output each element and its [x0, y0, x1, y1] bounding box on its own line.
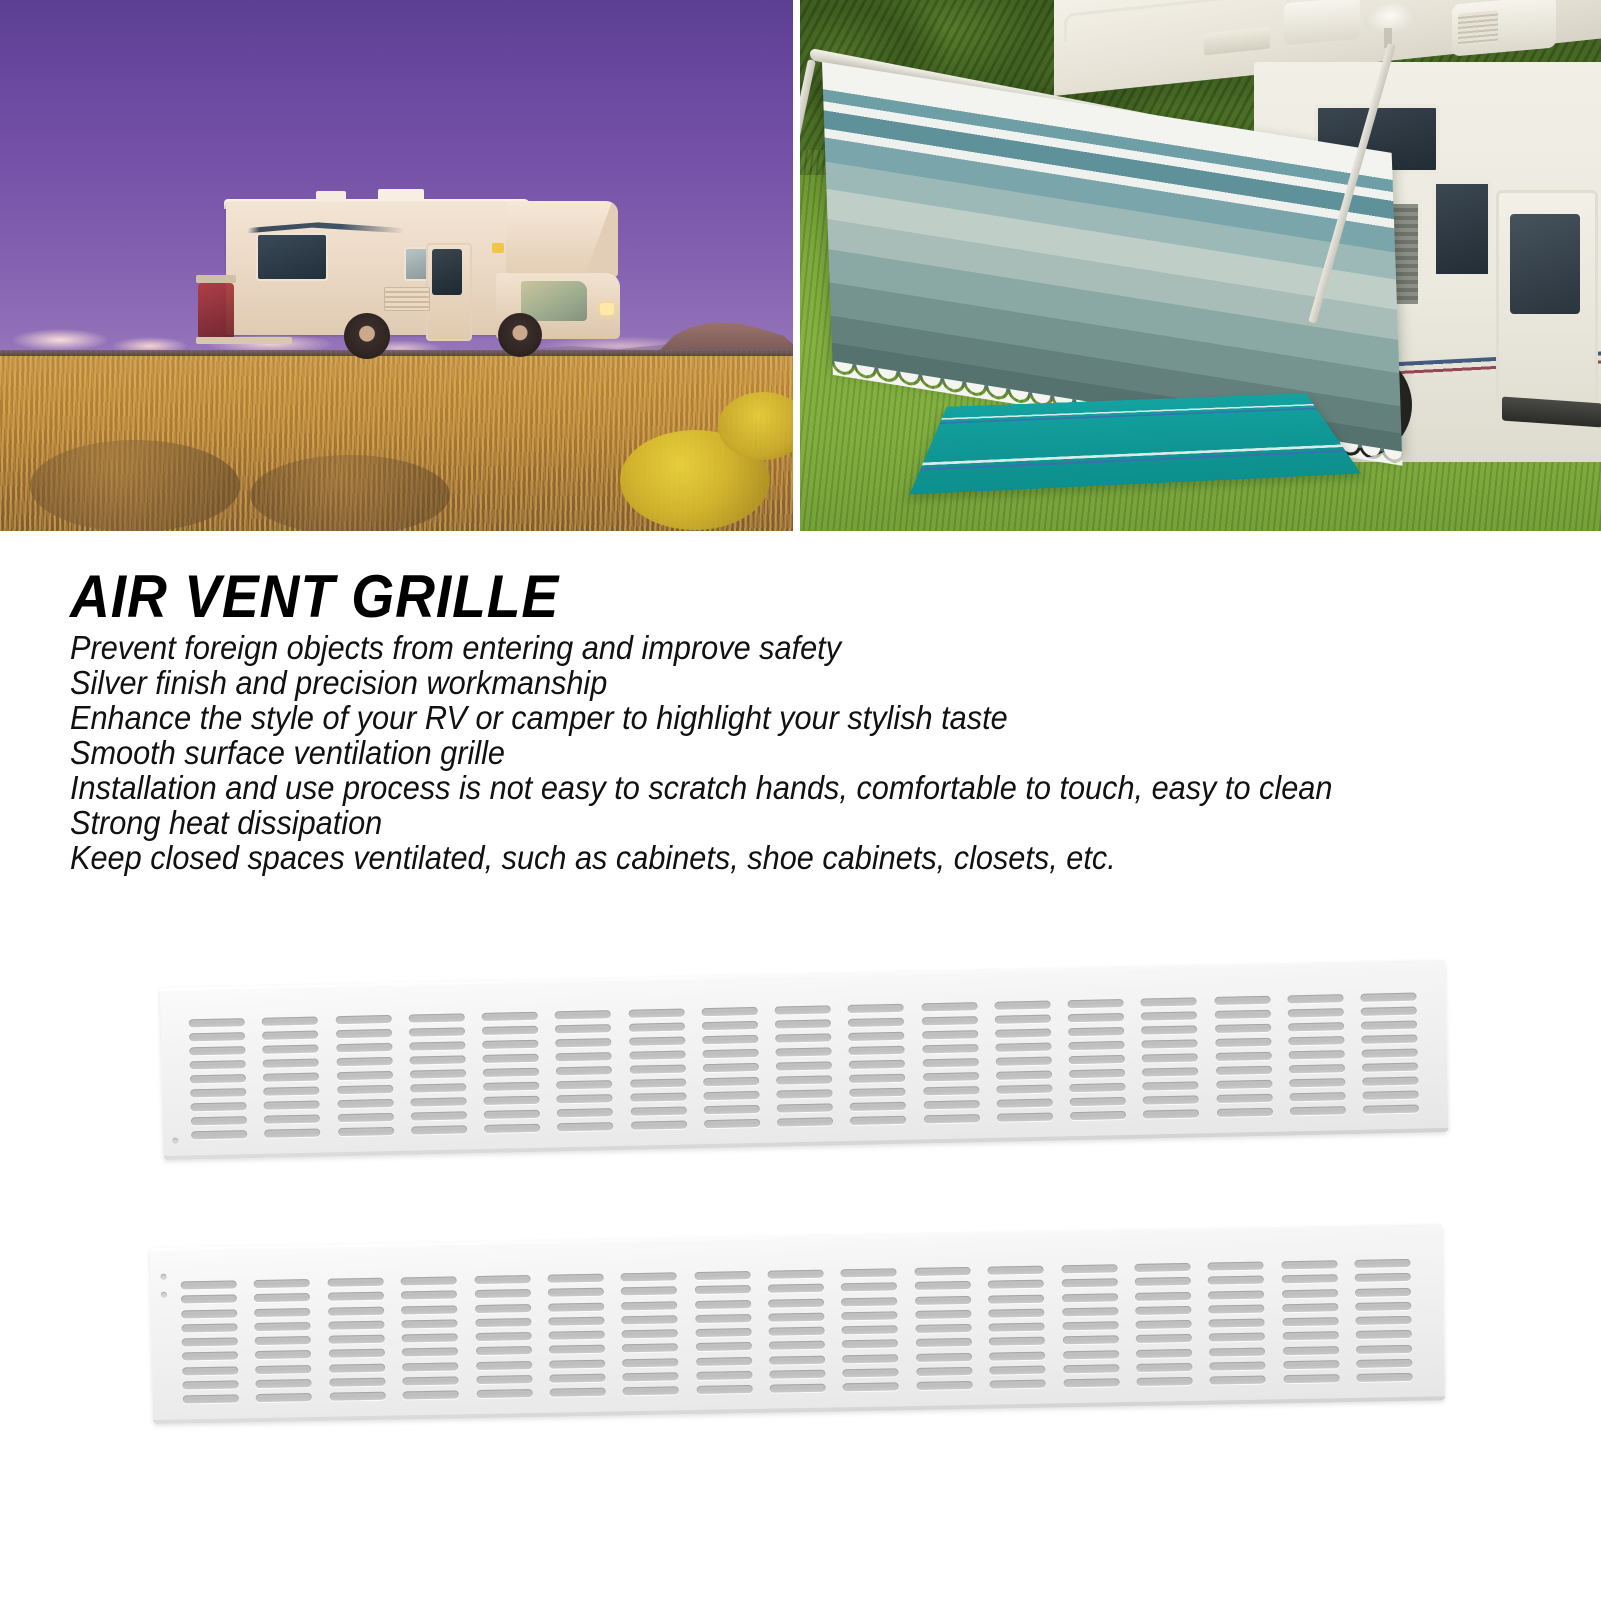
vent-slot	[1215, 1038, 1271, 1047]
vent-slot	[1356, 1359, 1412, 1368]
slot-column	[701, 1007, 760, 1128]
vent-slot	[181, 1295, 237, 1304]
rear-wheel	[344, 313, 390, 359]
vent-slot	[989, 1323, 1045, 1332]
slot-column	[1061, 1264, 1119, 1387]
grille-plate	[160, 960, 1448, 1160]
vent-slot	[916, 1338, 972, 1347]
vent-slot	[191, 1116, 247, 1125]
vent-slot	[842, 1354, 898, 1363]
vent-slot	[547, 1274, 603, 1283]
slot-column	[768, 1270, 826, 1393]
mounted-bicycle	[198, 283, 234, 339]
slot-column	[988, 1266, 1046, 1389]
vent-slot	[695, 1300, 751, 1309]
vent-slot	[768, 1284, 824, 1293]
vent-slot	[548, 1288, 604, 1297]
vent-slot	[775, 1033, 831, 1042]
vent-slot	[1363, 1105, 1419, 1114]
vent-slot	[409, 1041, 465, 1050]
vent-slot	[622, 1358, 678, 1367]
vent-slot	[556, 1052, 612, 1061]
feature-item: Prevent foreign objects from entering an…	[70, 630, 1465, 665]
photo-divider	[793, 0, 800, 531]
vent-slot	[777, 1103, 833, 1112]
slot-column	[1134, 1263, 1192, 1386]
vent-slot	[403, 1376, 459, 1385]
vent-slot	[1215, 1066, 1271, 1075]
vent-slot	[841, 1268, 897, 1277]
slot-column	[181, 1280, 239, 1403]
vent-slot	[776, 1075, 832, 1084]
vent-slot	[189, 1018, 245, 1027]
slot-column	[555, 1010, 614, 1131]
vent-slot	[1289, 1092, 1345, 1101]
vent-slot	[549, 1345, 605, 1354]
vent-slot	[182, 1366, 238, 1375]
vent-slot	[255, 1350, 311, 1359]
vent-slot	[483, 1068, 539, 1077]
slot-column	[1360, 993, 1419, 1114]
vent-slot	[1354, 1259, 1410, 1268]
vent-slot	[629, 1051, 685, 1060]
vent-slot	[1356, 1330, 1412, 1339]
vent-slot	[696, 1385, 752, 1394]
door-window	[432, 249, 462, 295]
vent-slot	[848, 1032, 904, 1041]
vent-slot	[1362, 1077, 1418, 1086]
mounting-hole	[161, 1292, 167, 1298]
vent-slot	[1216, 1108, 1272, 1117]
vent-slot	[695, 1314, 751, 1323]
feature-item: Installation and use process is not easy…	[70, 770, 1465, 805]
vent-slot	[335, 1029, 391, 1038]
vent-slot	[1143, 1095, 1199, 1104]
vent-slot	[483, 1096, 539, 1105]
vent-slot	[1214, 1010, 1270, 1019]
vent-slot	[328, 1320, 384, 1329]
vent-slot	[848, 1004, 904, 1013]
front-wheel	[498, 313, 542, 357]
vent-slot	[484, 1110, 540, 1119]
vent-slot	[401, 1276, 457, 1285]
vent-slot	[1136, 1348, 1192, 1357]
vent-slot	[550, 1388, 606, 1397]
vent-slot	[403, 1390, 459, 1399]
vent-slot	[695, 1342, 751, 1351]
vent-slot	[329, 1363, 385, 1372]
vent-slot	[1069, 1083, 1125, 1092]
vent-slot	[1361, 1021, 1417, 1030]
vent-slot	[411, 1125, 467, 1134]
vent-slot	[989, 1337, 1045, 1346]
vent-slot	[988, 1308, 1044, 1317]
vent-slot	[768, 1298, 824, 1307]
vent-slot	[1355, 1273, 1411, 1282]
vent-slot	[850, 1116, 906, 1125]
vent-slot	[1135, 1306, 1191, 1315]
vent-slot	[548, 1302, 604, 1311]
vent-slot	[997, 1113, 1053, 1122]
vent-slot	[622, 1344, 678, 1353]
vent-slot	[474, 1275, 530, 1284]
vent-slot	[557, 1122, 613, 1131]
vent-slot	[848, 1018, 904, 1027]
vent-slot	[1141, 997, 1197, 1006]
vent-slot	[1283, 1374, 1339, 1383]
product-listing-page: AIR VENT GRILLE Prevent foreign objects …	[0, 0, 1601, 1601]
vent-slot	[264, 1129, 320, 1138]
vent-slot	[1209, 1333, 1265, 1342]
vent-slot	[337, 1099, 393, 1108]
vent-slot	[628, 1009, 684, 1018]
vent-slot	[1361, 1007, 1417, 1016]
feature-item: Enhance the style of your RV or camper t…	[70, 700, 1465, 735]
vent-slot	[182, 1352, 238, 1361]
vent-slot	[995, 1029, 1051, 1038]
rear-bumper	[196, 337, 292, 344]
vent-slot	[703, 1063, 759, 1072]
vent-slot	[1282, 1331, 1338, 1340]
slot-column	[694, 1271, 752, 1394]
vent-slot	[630, 1093, 686, 1102]
vent-slot	[1210, 1361, 1266, 1370]
headlight	[600, 303, 614, 315]
vent-slot	[1362, 1049, 1418, 1058]
vent-slot	[622, 1315, 678, 1324]
vent-slot	[474, 1289, 530, 1298]
vent-slot	[628, 1023, 684, 1032]
vent-slot	[1289, 1078, 1345, 1087]
vent-slot	[996, 1071, 1052, 1080]
air-vent-grille-unit-2	[150, 1224, 1453, 1448]
slot-column	[1208, 1262, 1266, 1385]
vent-slot	[1062, 1307, 1118, 1316]
vent-slot	[556, 1080, 612, 1089]
slot-column	[401, 1276, 459, 1399]
vent-slot	[996, 1085, 1052, 1094]
grille-plate	[150, 1224, 1445, 1424]
vent-slot	[1062, 1336, 1118, 1345]
vent-slot	[1141, 1025, 1197, 1034]
vent-slot	[1288, 1050, 1344, 1059]
vent-slot	[842, 1311, 898, 1320]
rv-sunset-photo	[0, 0, 793, 531]
vent-slot	[484, 1124, 540, 1133]
slot-column	[1067, 999, 1126, 1120]
vent-slot	[337, 1085, 393, 1094]
vent-slot	[256, 1365, 312, 1374]
vent-slot	[921, 1002, 977, 1011]
vent-slot	[1355, 1302, 1411, 1311]
vent-slot	[988, 1280, 1044, 1289]
vent-slot	[190, 1060, 246, 1069]
vent-slot	[402, 1333, 458, 1342]
plate-bottom-edge	[153, 1396, 1445, 1424]
vent-slot	[263, 1087, 319, 1096]
vent-slot	[769, 1355, 825, 1364]
vent-slot	[181, 1309, 237, 1318]
vent-slot	[476, 1361, 532, 1370]
slot-column	[994, 1001, 1053, 1122]
vent-slot	[1281, 1260, 1337, 1269]
vent-slot	[769, 1341, 825, 1350]
vent-slot	[1281, 1274, 1337, 1283]
vent-slot	[922, 1030, 978, 1039]
vent-slot	[401, 1305, 457, 1314]
slot-column	[1214, 996, 1273, 1117]
vent-slot	[923, 1086, 979, 1095]
vent-slot	[915, 1281, 971, 1290]
page-title: AIR VENT GRILLE	[70, 566, 1450, 628]
vent-slot	[1282, 1289, 1338, 1298]
vent-slot	[1069, 1069, 1125, 1078]
feature-item: Keep closed spaces ventilated, such as c…	[70, 840, 1465, 875]
vent-slot	[841, 1297, 897, 1306]
slot-column	[262, 1017, 321, 1138]
rear-rack	[196, 275, 236, 283]
dark-shrub	[30, 440, 240, 531]
vent-slot	[989, 1351, 1045, 1360]
vent-slot	[704, 1119, 760, 1128]
vent-slot	[408, 1013, 464, 1022]
vent-slot	[1069, 1055, 1125, 1064]
vent-slot	[410, 1097, 466, 1106]
vent-slot	[775, 1005, 831, 1014]
vent-slot	[336, 1057, 392, 1066]
vent-slot	[1068, 1013, 1124, 1022]
vent-slot	[329, 1349, 385, 1358]
vent-slot	[622, 1329, 678, 1338]
photo-band	[0, 0, 1601, 531]
vent-slot	[703, 1091, 759, 1100]
mounting-hole	[172, 1138, 178, 1144]
motorhome-vehicle	[196, 185, 616, 363]
vent-slot	[694, 1271, 750, 1280]
vent-slot	[254, 1279, 310, 1288]
vent-slot	[1282, 1303, 1338, 1312]
vent-slot	[1142, 1067, 1198, 1076]
vent-slot	[631, 1121, 687, 1130]
vent-slot	[475, 1318, 531, 1327]
vent-slot	[623, 1386, 679, 1395]
roof-vent	[316, 191, 346, 201]
vent-slot	[329, 1377, 385, 1386]
vent-slot	[629, 1065, 685, 1074]
mounting-hole	[160, 1274, 166, 1280]
vent-slot	[1061, 1293, 1117, 1302]
vent-slot	[988, 1294, 1044, 1303]
vent-slot	[181, 1323, 237, 1332]
vent-slot	[1357, 1373, 1413, 1382]
vent-slot	[702, 1021, 758, 1030]
plate-top-edge	[150, 1224, 1442, 1251]
vent-slot	[849, 1046, 905, 1055]
vent-slot	[182, 1337, 238, 1346]
vent-slot	[1135, 1277, 1191, 1286]
vent-slot	[1356, 1344, 1412, 1353]
vent-slot	[482, 1040, 538, 1049]
vent-slot	[410, 1083, 466, 1092]
vent-slot	[922, 1058, 978, 1067]
vent-slot	[695, 1328, 751, 1337]
vent-slot	[923, 1114, 979, 1123]
door-window	[1510, 214, 1580, 314]
vent-slot	[995, 1057, 1051, 1066]
vent-slot	[842, 1340, 898, 1349]
vent-slot	[555, 1024, 611, 1033]
vent-slot	[548, 1331, 604, 1340]
dark-shrub	[250, 455, 450, 531]
slot-column	[621, 1272, 679, 1395]
vent-slot	[1355, 1287, 1411, 1296]
vent-slot	[1063, 1378, 1119, 1387]
vent-slot	[189, 1032, 245, 1041]
slot-array	[181, 1259, 1413, 1404]
side-window	[256, 233, 328, 281]
vent-slot	[922, 1044, 978, 1053]
vent-slot	[482, 1026, 538, 1035]
vent-slot	[263, 1045, 319, 1054]
vent-slot	[1210, 1376, 1266, 1385]
vent-slot	[1361, 1035, 1417, 1044]
vent-slot	[401, 1319, 457, 1328]
vent-slot	[777, 1117, 833, 1126]
slot-column	[914, 1267, 972, 1390]
vent-slot	[842, 1325, 898, 1334]
vent-slot	[776, 1061, 832, 1070]
vent-slot	[988, 1266, 1044, 1275]
vent-slot	[703, 1077, 759, 1086]
vent-slot	[1134, 1263, 1190, 1272]
vent-slot	[191, 1130, 247, 1139]
vent-slot	[630, 1079, 686, 1088]
vent-slot	[994, 1001, 1050, 1010]
vent-slot	[1061, 1279, 1117, 1288]
slot-array	[189, 993, 1419, 1140]
vent-slot	[1363, 1091, 1419, 1100]
feature-item: Smooth surface ventilation grille	[70, 735, 1465, 770]
vent-slot	[189, 1046, 245, 1055]
vent-slot	[768, 1312, 824, 1321]
vent-slot	[264, 1115, 320, 1124]
vent-slot	[701, 1007, 757, 1016]
vent-slot	[1135, 1320, 1191, 1329]
vent-slot	[190, 1074, 246, 1083]
vent-slot	[916, 1381, 972, 1390]
vent-slot	[264, 1101, 320, 1110]
vent-slot	[1288, 1022, 1344, 1031]
vent-slot	[849, 1060, 905, 1069]
feature-item: Strong heat dissipation	[70, 805, 1465, 840]
vent-slot	[995, 1015, 1051, 1024]
vent-slot	[623, 1372, 679, 1381]
vent-slot	[255, 1322, 311, 1331]
vent-slot	[1355, 1316, 1411, 1325]
vent-slot	[1062, 1321, 1118, 1330]
vent-slot	[630, 1107, 686, 1116]
vent-slot	[1141, 1011, 1197, 1020]
vent-slot	[1143, 1081, 1199, 1090]
vent-slot	[923, 1100, 979, 1109]
slot-column	[628, 1009, 687, 1130]
roof-ac-unit	[1452, 0, 1556, 57]
vent-slot	[1287, 994, 1343, 1003]
vent-slot	[555, 1010, 611, 1019]
vent-slot	[850, 1102, 906, 1111]
slot-column	[1287, 994, 1346, 1115]
vent-slot	[410, 1069, 466, 1078]
vent-slot	[402, 1362, 458, 1371]
vent-slot	[1216, 1094, 1272, 1103]
vent-slot	[1216, 1080, 1272, 1089]
marker-light	[492, 243, 504, 253]
slot-column	[335, 1015, 394, 1136]
vent-slot	[1135, 1291, 1191, 1300]
slot-column	[1354, 1259, 1412, 1382]
vent-slot	[1362, 1063, 1418, 1072]
vent-slot	[776, 1089, 832, 1098]
vent-slot	[696, 1371, 752, 1380]
slot-column	[1141, 997, 1200, 1118]
vent-slot	[703, 1105, 759, 1114]
vent-slot	[555, 1038, 611, 1047]
sidewall-vent-grille	[384, 287, 430, 311]
vent-slot	[336, 1043, 392, 1052]
vent-slot	[1063, 1350, 1119, 1359]
vent-slot	[621, 1301, 677, 1310]
air-vent-grille-unit-1	[160, 960, 1454, 1188]
vent-slot	[401, 1291, 457, 1300]
vent-slot	[850, 1088, 906, 1097]
slot-column	[408, 1013, 467, 1134]
vent-slot	[1215, 1024, 1271, 1033]
slot-column	[921, 1002, 980, 1123]
vent-slot	[915, 1295, 971, 1304]
vent-slot	[548, 1316, 604, 1325]
vent-slot	[1070, 1097, 1126, 1106]
vent-slot	[475, 1304, 531, 1313]
vent-slot	[775, 1047, 831, 1056]
vent-slot	[335, 1015, 391, 1024]
vent-slot	[1136, 1363, 1192, 1372]
vent-slot	[263, 1073, 319, 1082]
vent-slot	[621, 1272, 677, 1281]
vent-slot	[1283, 1346, 1339, 1355]
vent-slot	[549, 1359, 605, 1368]
vent-slot	[1209, 1319, 1265, 1328]
side-window	[1432, 180, 1492, 278]
rv-cabover-bunk	[506, 201, 618, 277]
vent-slot	[1208, 1276, 1264, 1285]
vent-slot	[476, 1375, 532, 1384]
roof-ac-unit	[1284, 0, 1360, 45]
vent-slot	[841, 1283, 897, 1292]
vent-slot	[254, 1293, 310, 1302]
vent-slot	[327, 1278, 383, 1287]
vent-slot	[483, 1054, 539, 1063]
vent-slot	[262, 1031, 318, 1040]
plate-top-edge	[160, 960, 1445, 991]
vent-slot	[328, 1292, 384, 1301]
vent-slot	[923, 1072, 979, 1081]
slot-column	[547, 1274, 605, 1397]
vent-slot	[916, 1367, 972, 1376]
vent-slot	[769, 1327, 825, 1336]
slot-column	[254, 1279, 312, 1402]
slot-column	[327, 1278, 385, 1401]
vent-slot	[1143, 1109, 1199, 1118]
